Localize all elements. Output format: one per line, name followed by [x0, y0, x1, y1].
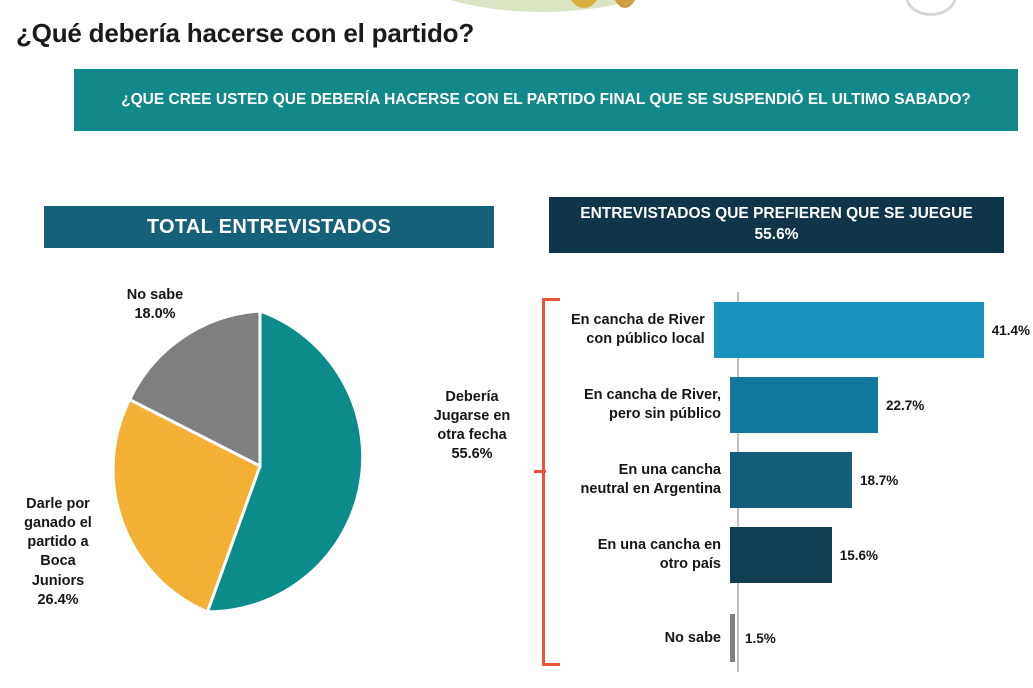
pie-label-deberia-jugarse-name: Debería Jugarse en otra fecha — [424, 388, 520, 445]
section-header-total-entrevistados: TOTAL ENTREVISTADOS — [44, 206, 494, 248]
bar-category-line1: En una cancha — [570, 461, 721, 480]
pie-label-darle-por-ganado-name: Darle por ganado el partido a Boca Junio… — [14, 495, 102, 591]
pie-label-deberia-jugarse-value: 55.6% — [424, 445, 520, 464]
bar-chart-panel: En cancha de River con público local 41.… — [520, 280, 1033, 680]
bar-fill — [730, 527, 832, 583]
bar-row: En cancha de River, pero sin público 22.… — [570, 377, 1030, 433]
bar-category-line2: otro país — [570, 555, 721, 574]
bar-category-line2: neutral en Argentina — [570, 480, 721, 499]
bar-category-label: En cancha de River, pero sin público — [570, 386, 730, 424]
pie-label-darle-por-ganado: Darle por ganado el partido a Boca Junio… — [14, 495, 102, 610]
pie-label-no-sabe: No sabe 18.0% — [95, 286, 215, 324]
bar-fill — [714, 302, 984, 358]
page-title: ¿Qué debería hacerse con el partido? — [16, 18, 474, 49]
bar-category-label: En cancha de River con público local — [570, 311, 714, 349]
bar-track: 41.4% — [714, 302, 1030, 358]
gold-shape-decoration-2 — [612, 0, 638, 8]
bar-track: 1.5% — [730, 610, 1030, 666]
bar-category-label: En una cancha neutral en Argentina — [570, 461, 730, 499]
bar-category-line1: No sabe — [570, 629, 721, 648]
gold-shape-decoration-1 — [566, 0, 602, 8]
bar-track: 15.6% — [730, 527, 1030, 583]
bar-value-label: 18.7% — [860, 473, 898, 488]
bar-value-label: 22.7% — [886, 398, 924, 413]
circle-logo-icon — [905, 0, 957, 16]
bar-category-line1: En cancha de River — [570, 311, 705, 330]
bar-track: 22.7% — [730, 377, 1030, 433]
bar-category-label: No sabe — [570, 629, 730, 648]
bar-category-label: En una cancha en otro país — [570, 536, 730, 574]
red-bracket-tick — [534, 470, 546, 473]
bar-category-line2: con público local — [570, 330, 705, 349]
pie-chart — [100, 306, 420, 626]
bar-fill — [730, 614, 735, 662]
pie-label-darle-por-ganado-value: 26.4% — [14, 591, 102, 610]
bar-row: En cancha de River con público local 41.… — [570, 302, 1030, 358]
bar-category-line1: En cancha de River, — [570, 386, 721, 405]
green-arc-decoration — [392, 0, 692, 12]
red-bracket-decoration — [542, 298, 560, 666]
bar-value-label: 1.5% — [745, 631, 776, 646]
bar-row: No sabe 1.5% — [570, 610, 1030, 666]
pie-label-deberia-jugarse: Debería Jugarse en otra fecha 55.6% — [424, 388, 520, 465]
pie-chart-panel: No sabe 18.0% Debería Jugarse en otra fe… — [0, 280, 520, 680]
pie-label-no-sabe-name: No sabe — [95, 286, 215, 305]
bar-category-line2: pero sin público — [570, 405, 721, 424]
section-header-prefieren-que-se-juegue: ENTREVISTADOS QUE PREFIEREN QUE SE JUEGU… — [549, 197, 1004, 253]
bar-track: 18.7% — [730, 452, 1030, 508]
bar-row: En una cancha en otro país 15.6% — [570, 527, 1030, 583]
bar-category-line1: En una cancha en — [570, 536, 721, 555]
question-banner: ¿QUE CREE USTED QUE DEBERÍA HACERSE CON … — [74, 69, 1018, 131]
bar-fill — [730, 452, 852, 508]
bar-row: En una cancha neutral en Argentina 18.7% — [570, 452, 1030, 508]
bar-value-label: 41.4% — [992, 323, 1030, 338]
bar-fill — [730, 377, 878, 433]
pie-label-no-sabe-value: 18.0% — [95, 305, 215, 324]
bar-value-label: 15.6% — [840, 548, 878, 563]
top-decoration — [0, 0, 1033, 16]
